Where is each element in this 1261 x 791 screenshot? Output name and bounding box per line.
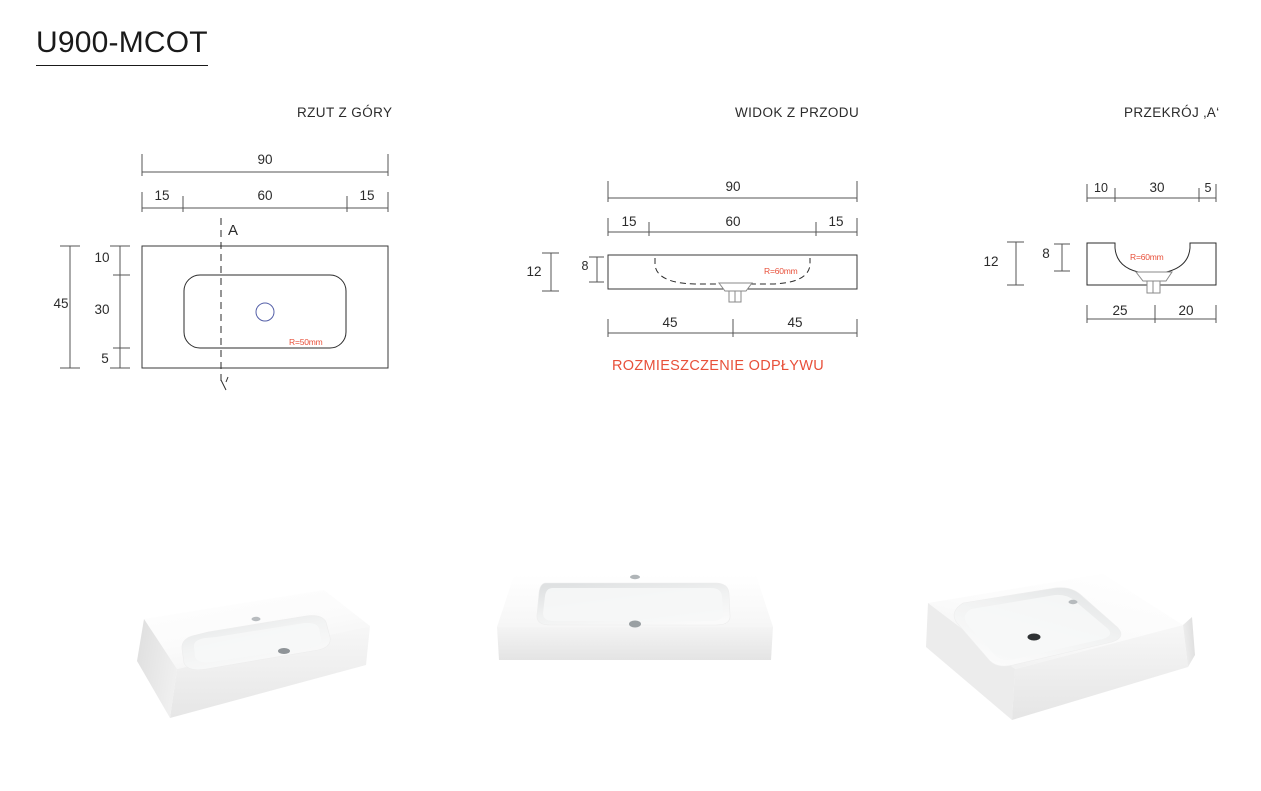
section-dim-text-overall-height: 12 bbox=[983, 254, 998, 269]
section-dim-text-top-back: 10 bbox=[1094, 181, 1108, 195]
tap-hole bbox=[630, 575, 640, 579]
technical-drawing-page: U900-MCOT RZUT Z GÓRY WIDOK Z PRZODU PRZ… bbox=[0, 0, 1261, 791]
section-dim-overall-height bbox=[1007, 242, 1024, 285]
page-title: U900-MCOT bbox=[36, 26, 208, 66]
front-dim-text-width-left: 15 bbox=[621, 214, 636, 229]
section-dim-text-top-front: 5 bbox=[1205, 181, 1212, 195]
section-dim-text-top-bowl: 30 bbox=[1149, 180, 1164, 195]
top-dim-text-width-center: 60 bbox=[257, 188, 272, 203]
drain-hole bbox=[629, 621, 641, 628]
drain-hole bbox=[1028, 634, 1041, 641]
render-perspective-left bbox=[60, 555, 390, 765]
tap-hole bbox=[1069, 600, 1078, 604]
top-view-outline bbox=[142, 246, 388, 368]
front-dim-overall-height bbox=[542, 253, 559, 291]
top-dim-text-width-right: 15 bbox=[359, 188, 374, 203]
front-view-drain bbox=[719, 283, 752, 302]
section-dim-text-bottom-back: 25 bbox=[1112, 303, 1127, 318]
top-view-drain bbox=[256, 303, 274, 321]
front-view-outline bbox=[608, 255, 857, 289]
section-view-drain bbox=[1136, 272, 1172, 293]
render-perspective-right bbox=[905, 555, 1215, 760]
front-dim-bowl-height bbox=[589, 257, 604, 282]
front-dim-text-drain-left: 45 bbox=[662, 315, 677, 330]
section-cut-letter: A bbox=[228, 222, 238, 239]
top-dim-text-overall-depth: 45 bbox=[53, 296, 68, 311]
heading-front-view: WIDOK Z PRZODU bbox=[735, 105, 859, 120]
front-dim-text-bowl-height: 8 bbox=[582, 259, 589, 273]
front-dim-text-overall-height: 12 bbox=[526, 264, 541, 279]
drain-placement-caption: ROZMIESZCZENIE ODPŁYWU bbox=[612, 358, 824, 374]
section-profile-outline bbox=[1087, 243, 1216, 285]
top-dim-text-depth-back: 10 bbox=[94, 250, 109, 265]
tap-hole bbox=[252, 617, 261, 621]
heading-top-view: RZUT Z GÓRY bbox=[297, 105, 392, 120]
front-dim-drain-position bbox=[608, 319, 857, 337]
section-view-radius-note: R=60mm bbox=[1130, 252, 1164, 262]
heading-section-view: PRZEKRÓJ ‚A‘ bbox=[1124, 105, 1220, 120]
section-line-arrow bbox=[221, 377, 228, 390]
drain-hole bbox=[278, 648, 290, 654]
front-view-group bbox=[542, 181, 857, 337]
front-dim-text-width-right: 15 bbox=[828, 214, 843, 229]
top-view-group bbox=[60, 154, 388, 390]
front-dim-text-overall-width: 90 bbox=[725, 179, 740, 194]
top-dim-depth-segments bbox=[110, 246, 130, 368]
section-dim-text-bowl-height: 8 bbox=[1042, 246, 1050, 261]
front-dim-text-drain-right: 45 bbox=[787, 315, 802, 330]
top-dim-text-width-left: 15 bbox=[154, 188, 169, 203]
top-dim-text-overall-width: 90 bbox=[257, 152, 272, 167]
render-front-elevation bbox=[480, 555, 790, 680]
top-dim-text-depth-bowl: 30 bbox=[94, 302, 109, 317]
front-view-radius-note: R=60mm bbox=[764, 266, 798, 276]
section-dim-text-bottom-front: 20 bbox=[1178, 303, 1193, 318]
top-dim-text-depth-front: 5 bbox=[101, 351, 109, 366]
section-dim-bowl-height bbox=[1054, 244, 1070, 271]
front-dim-text-width-center: 60 bbox=[725, 214, 740, 229]
section-dim-bottom bbox=[1087, 305, 1216, 323]
top-view-radius-note: R=50mm bbox=[289, 337, 323, 347]
